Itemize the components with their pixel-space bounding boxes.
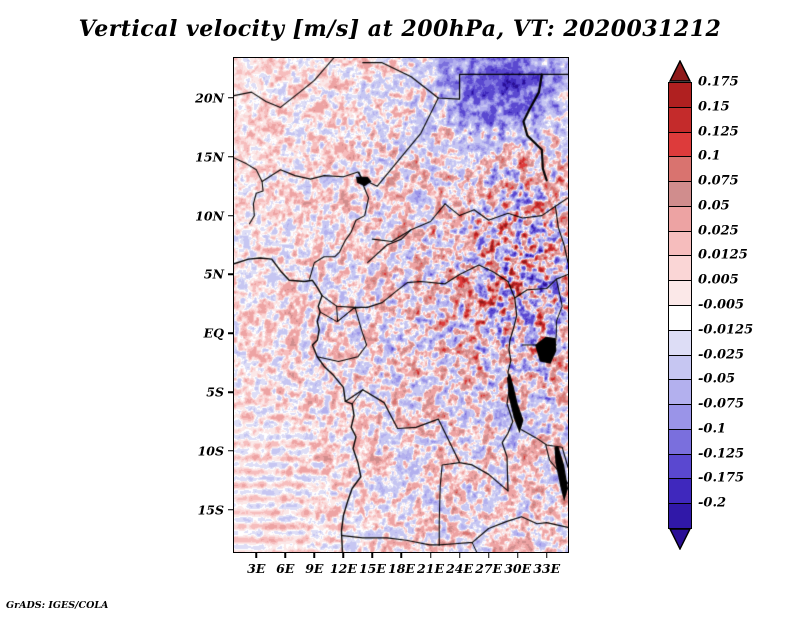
y-axis-tick-label: 10N — [195, 208, 224, 223]
colorbar-tick-label: -0.0125 — [698, 322, 753, 337]
colorbar-tick-label: 0.175 — [698, 75, 739, 90]
colorbar-tick-label: -0.125 — [698, 446, 744, 461]
colorbar-swatch — [668, 206, 692, 232]
colorbar-tick-label: -0.075 — [698, 397, 744, 412]
x-axis-tick-label: 24E — [446, 561, 473, 576]
vertical-velocity-heatmap — [234, 58, 568, 552]
y-axis-tick-label: 5S — [206, 385, 224, 400]
y-axis-tick-mark — [228, 391, 234, 393]
colorbar: 0.1750.150.1250.10.0750.050.0250.01250.0… — [668, 60, 692, 550]
x-axis-tick-label: 12E — [330, 561, 357, 576]
colorbar-swatch — [668, 156, 692, 182]
colorbar-tick-label: 0.005 — [698, 273, 739, 288]
colorbar-bottom-arrow — [668, 528, 692, 550]
colorbar-tick-label: 0.125 — [698, 124, 739, 139]
colorbar-swatch — [668, 330, 692, 356]
colorbar-swatch — [668, 132, 692, 158]
x-axis-tick-mark — [546, 552, 548, 558]
colorbar-tick-label: 0.075 — [698, 174, 739, 189]
footer-attribution: GrADS: IGES/COLA — [6, 600, 108, 611]
colorbar-tick-label: -0.2 — [698, 496, 726, 511]
y-axis-tick-mark — [228, 97, 234, 99]
colorbar-swatch — [668, 181, 692, 207]
colorbar-swatch — [668, 429, 692, 455]
map-plot-area — [234, 58, 568, 552]
colorbar-tick-label: 0.15 — [698, 99, 730, 114]
y-axis-tick-mark — [228, 509, 234, 511]
colorbar-swatch — [668, 503, 692, 529]
x-axis-tick-label: 33E — [533, 561, 560, 576]
colorbar-swatch — [668, 82, 692, 108]
colorbar-tick-label: 0.05 — [698, 198, 730, 213]
colorbar-swatch — [668, 305, 692, 331]
colorbar-tick-label: -0.005 — [698, 298, 744, 313]
colorbar-tick-label: -0.05 — [698, 372, 735, 387]
x-axis-tick-label: 18E — [388, 561, 415, 576]
y-axis-tick-mark — [228, 156, 234, 158]
colorbar-swatch — [668, 255, 692, 281]
x-axis-tick-mark — [314, 552, 316, 558]
colorbar-swatch — [668, 355, 692, 381]
y-axis-tick-label: 20N — [195, 90, 224, 105]
colorbar-tick-label: 0.0125 — [698, 248, 748, 263]
x-axis-tick-mark — [285, 552, 287, 558]
x-axis-tick-label: 30E — [504, 561, 531, 576]
colorbar-swatch — [668, 231, 692, 257]
x-axis-tick-mark — [372, 552, 374, 558]
y-axis-tick-label: 15S — [198, 502, 224, 517]
colorbar-tick-label: -0.025 — [698, 347, 744, 362]
y-axis-tick-mark — [228, 332, 234, 334]
y-axis-tick-label: 5N — [204, 267, 224, 282]
y-axis-tick-label: 15N — [195, 149, 224, 164]
colorbar-tick-label: 0.025 — [698, 223, 739, 238]
x-axis-tick-label: 27E — [475, 561, 502, 576]
x-axis-tick-mark — [256, 552, 258, 558]
x-axis-tick-label: 9E — [305, 561, 323, 576]
y-axis-tick-mark — [228, 215, 234, 217]
y-axis-tick-mark — [228, 274, 234, 276]
page-title: Vertical velocity [m/s] at 200hPa, VT: 2… — [0, 16, 800, 42]
colorbar-swatch — [668, 107, 692, 133]
x-axis-tick-mark — [517, 552, 519, 558]
x-axis-tick-mark — [488, 552, 490, 558]
y-axis-tick-label: EQ — [204, 326, 224, 341]
x-axis-tick-label: 3E — [247, 561, 265, 576]
y-axis-tick-label: 10S — [198, 443, 224, 458]
x-axis-tick-label: 15E — [359, 561, 386, 576]
colorbar-swatch — [668, 454, 692, 480]
x-axis-tick-label: 21E — [417, 561, 444, 576]
colorbar-tick-label: 0.1 — [698, 149, 721, 164]
colorbar-swatch — [668, 280, 692, 306]
colorbar-swatch — [668, 379, 692, 405]
y-axis-tick-mark — [228, 450, 234, 452]
x-axis-tick-mark — [459, 552, 461, 558]
x-axis-tick-mark — [401, 552, 403, 558]
colorbar-top-arrow — [668, 60, 692, 82]
x-axis-tick-mark — [343, 552, 345, 558]
colorbar-swatch — [668, 478, 692, 504]
x-axis-tick-mark — [430, 552, 432, 558]
colorbar-tick-label: -0.1 — [698, 421, 726, 436]
colorbar-swatch — [668, 404, 692, 430]
colorbar-tick-label: -0.175 — [698, 471, 744, 486]
x-axis-tick-label: 6E — [276, 561, 294, 576]
